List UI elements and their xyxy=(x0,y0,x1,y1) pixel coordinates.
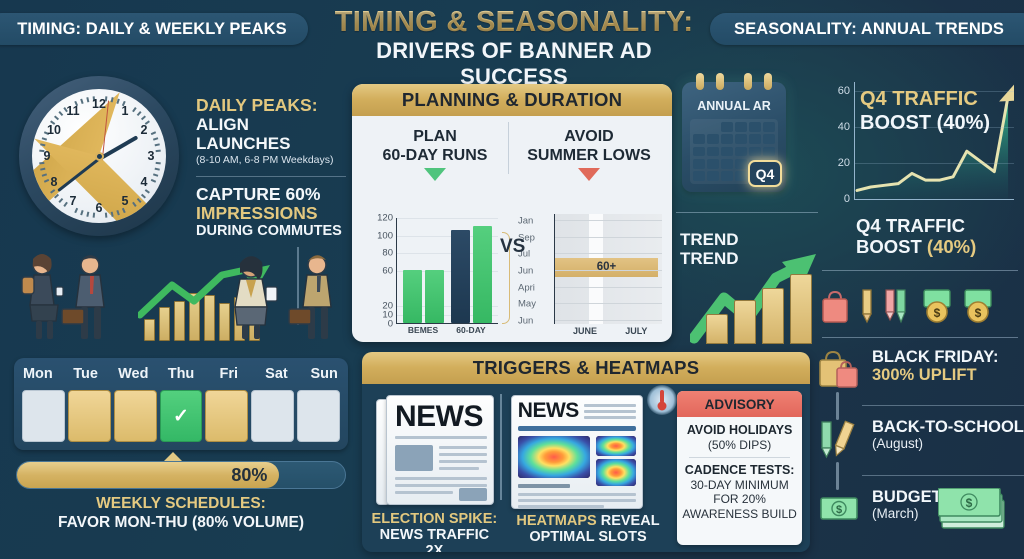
weekday-label-tue: Tue xyxy=(62,358,110,390)
news-image-block xyxy=(395,445,433,471)
seasonal-icon-row: $ $ xyxy=(820,282,1020,324)
calendar-day xyxy=(707,147,719,157)
weekday-label-sun: Sun xyxy=(300,358,348,390)
calendar-day xyxy=(763,134,775,144)
trend-arrow-illustration xyxy=(690,252,820,344)
planning-panel-title: PLANNING & DURATION xyxy=(352,84,672,116)
weekday-cell-tue[interactable] xyxy=(68,390,111,442)
weekly-schedule-card: MonTueWedThuFriSatSun ✓ xyxy=(14,358,348,450)
calendar-day xyxy=(707,171,719,181)
y-tick-20: 20 xyxy=(382,301,393,312)
avoid-title-line2: SUMMER LOWS xyxy=(527,147,651,164)
svg-text:$: $ xyxy=(836,504,842,516)
capture-line1: CAPTURE 60% xyxy=(196,185,346,204)
month-label-4: Apri xyxy=(518,282,535,293)
month-label-5: May xyxy=(518,299,536,310)
calendar-ring xyxy=(716,73,724,90)
timeline-connector xyxy=(836,462,839,490)
calendar-day xyxy=(763,147,775,157)
calendar-day xyxy=(735,159,747,169)
commuters-illustration xyxy=(14,243,348,343)
clock-face: 121234567891011 xyxy=(32,89,166,223)
overlay-line2: BOOST (40%) xyxy=(860,112,990,134)
heat-row xyxy=(555,253,662,254)
shopping-bags-icon xyxy=(818,348,862,390)
weekly-caption-line2: FAVOR MON-THU (80% VOLUME) xyxy=(14,514,348,532)
advisory-body: AVOID HOLIDAYS (50% DIPS) CADENCE TESTS:… xyxy=(677,417,802,521)
calendar-day xyxy=(721,134,733,144)
newspaper-icon: NEWS xyxy=(386,395,494,505)
divider xyxy=(676,212,818,213)
avoid-title-line1: AVOID xyxy=(564,128,613,145)
weekday-label-mon: Mon xyxy=(14,358,62,390)
election-caption-line1: ELECTION SPIKE: xyxy=(370,511,499,527)
weekday-cell-sun[interactable] xyxy=(297,390,340,442)
calendar-day xyxy=(721,171,733,181)
heatmap-main xyxy=(518,436,590,478)
election-spike-caption: ELECTION SPIKE: NEWS TRAFFIC 2X xyxy=(370,511,499,552)
overlay-line1: Q4 TRAFFIC xyxy=(860,88,978,110)
item-value: 300% UPLIFT xyxy=(872,366,999,384)
planning-duration-panel: PLANNING & DURATION PLAN 60-DAY RUNS 010… xyxy=(352,84,672,342)
annual-calendar-icon: ANNUAL AR Q4 xyxy=(682,82,786,192)
calendar-title: ANNUAL AR xyxy=(682,99,786,113)
clock-numeral-9: 9 xyxy=(39,149,55,163)
clock-numeral-2: 2 xyxy=(136,123,152,137)
weekday-cell-wed[interactable] xyxy=(114,390,157,442)
calendar-ring xyxy=(696,73,704,90)
month-label-3: Jun xyxy=(518,266,533,277)
weekday-label-thu: Thu xyxy=(157,358,205,390)
heatmap-page-icon: NEWS xyxy=(511,395,643,509)
election-caption-line2: NEWS TRAFFIC 2X xyxy=(370,527,499,552)
item-title: BACK-TO-SCHOOL xyxy=(872,418,1024,436)
trend-line1: TREND xyxy=(680,230,739,249)
heat-row xyxy=(555,320,662,321)
q4-badge: Q4 xyxy=(748,160,782,187)
calendar-ring xyxy=(744,73,752,90)
people-figures xyxy=(14,243,348,343)
advisory-item1-line2: (50% DIPS) xyxy=(682,438,797,453)
item-title: BLACK FRIDAY: xyxy=(872,348,999,366)
plan-title-line2: 60-DAY RUNS xyxy=(383,147,488,164)
summer-lows-heat-chart: 60+ JUNEJULY JanSepJulJunApriMayJun xyxy=(518,214,664,340)
heatmap-small-2 xyxy=(596,459,636,486)
triggers-panel-title: TRIGGERS & HEATMAPS xyxy=(362,352,810,384)
y-tick-60: 60 xyxy=(838,85,850,97)
election-spike-column: NEWS ELECTION SPIKE: NEWS TRAFFIC 2X xyxy=(370,391,499,545)
trend-bar xyxy=(734,300,756,344)
heatmaps-caption-line1: HEATMAPS REVEAL xyxy=(505,513,671,529)
advisory-item1-line1: AVOID HOLIDAYS xyxy=(682,423,797,438)
calendar-day xyxy=(735,134,747,144)
heat-row xyxy=(555,220,662,221)
money-coin-icon: $ xyxy=(921,288,953,324)
y-tick-20: 20 xyxy=(838,157,850,169)
capture-line2: IMPRESSIONS xyxy=(196,204,346,223)
money-stack-icon: $ xyxy=(938,488,1012,534)
down-triangle-green-icon xyxy=(424,168,446,181)
check-icon: ✓ xyxy=(173,405,189,428)
avoid-half-title: AVOID SUMMER LOWS xyxy=(514,122,664,165)
y-tick-80: 80 xyxy=(382,248,393,259)
item-sub: (August) xyxy=(872,436,1024,452)
clock-numeral-3: 3 xyxy=(143,149,159,163)
pencils-icon xyxy=(818,418,862,460)
money-coin-icon: $ xyxy=(962,288,994,324)
y-tick-100: 100 xyxy=(377,230,393,241)
weekday-label-fri: Fri xyxy=(205,358,253,390)
clock-numeral-10: 10 xyxy=(46,123,62,137)
calendar-day xyxy=(735,147,747,157)
news-word: NEWS xyxy=(395,400,483,434)
weekday-label-sat: Sat xyxy=(253,358,301,390)
trend-bar xyxy=(790,274,812,344)
clock-numeral-1: 1 xyxy=(117,104,133,118)
weekday-cell-thu[interactable]: ✓ xyxy=(160,390,203,442)
divider xyxy=(508,122,509,174)
calendar-day xyxy=(721,147,733,157)
divider xyxy=(862,475,1024,476)
heat-row xyxy=(555,237,662,238)
calendar-day xyxy=(693,147,705,157)
svg-text:$: $ xyxy=(966,496,973,510)
calendar-day xyxy=(721,122,733,132)
daily-peaks-note: (8-10 AM, 6-8 PM Weekdays) xyxy=(196,154,346,167)
heatmaps-column: NEWS xyxy=(505,391,671,545)
advisory-item2-line3: FOR 20% xyxy=(682,492,797,507)
list-item-text: BLACK FRIDAY: 300% UPLIFT xyxy=(872,348,999,384)
gridline xyxy=(855,163,1014,164)
heatmaps-caption: HEATMAPS REVEAL OPTIMAL SLOTS xyxy=(505,513,671,545)
infographic-canvas: TIMING: DAILY & WEEKLY PEAKS SEASONALITY… xyxy=(0,0,1024,559)
calendar-day xyxy=(749,122,761,132)
money-icon: $ xyxy=(818,488,862,530)
boost-pct: (40%) xyxy=(927,236,976,257)
list-item-text: BACK-TO-SCHOOL (August) xyxy=(872,418,1024,452)
heat-row xyxy=(555,270,662,271)
calendar-ring xyxy=(764,73,772,90)
plan-bar-plot: 010206080100120BEMES60-DAY xyxy=(396,218,498,324)
svg-text:$: $ xyxy=(975,306,982,320)
divider xyxy=(822,337,1018,338)
y-tick-60: 60 xyxy=(382,266,393,277)
month-label-6: Jun xyxy=(518,316,533,327)
divider xyxy=(196,176,346,177)
analog-clock: 121234567891011 xyxy=(19,76,179,236)
advisory-item2-line1: CADENCE TESTS: xyxy=(682,463,797,478)
x-tick-BEMES: BEMES xyxy=(408,325,438,335)
divider xyxy=(862,405,1024,406)
weekday-cell-mon[interactable] xyxy=(22,390,65,442)
advisory-header: ADVISORY xyxy=(677,391,802,417)
weekday-cell-row: ✓ xyxy=(14,390,348,442)
calendar-day xyxy=(693,159,705,169)
calendar-day xyxy=(735,122,747,132)
heat-row xyxy=(555,287,662,288)
calendar-day xyxy=(707,134,719,144)
calendar-day xyxy=(763,122,775,132)
daily-peaks-line2: ALIGN LAUNCHES xyxy=(196,115,346,153)
divider xyxy=(689,457,790,458)
pencil-icon xyxy=(859,288,875,324)
advisory-item2-line2: 30-DAY MINIMUM xyxy=(682,478,797,493)
clock-numeral-4: 4 xyxy=(136,175,152,189)
list-item: BACK-TO-SCHOOL (August) xyxy=(818,418,1024,460)
calendar-day xyxy=(693,171,705,181)
heat-row xyxy=(555,303,662,304)
divider xyxy=(822,270,1018,271)
weekday-cell-sat[interactable] xyxy=(251,390,294,442)
title-main: TIMING & SEASONALITY: xyxy=(332,6,696,39)
calendar-day xyxy=(707,159,719,169)
clock-numeral-12: 12 xyxy=(91,97,107,111)
title-subtitle: DRIVERS OF BANNER AD SUCCESS xyxy=(332,38,696,90)
volume-progress-track[interactable]: 80% xyxy=(16,461,346,489)
q4-caption: Q4 TRAFFIC BOOST (40%) xyxy=(856,215,1024,257)
y-tick-40: 40 xyxy=(838,121,850,133)
bar-60-DAY-0 xyxy=(451,230,470,323)
x-tick-JULY: JULY xyxy=(625,326,647,336)
bar-BEMES-1 xyxy=(425,270,444,323)
capture-line3: DURING COMMUTES xyxy=(196,223,346,240)
volume-progress-fill: 80% xyxy=(17,462,279,488)
avoid-summer-lows-half: AVOID SUMMER LOWS 60+ JUNEJULY JanSepJul… xyxy=(514,122,664,334)
clock-numeral-7: 7 xyxy=(65,194,81,208)
clock-numeral-5: 5 xyxy=(117,194,133,208)
month-label-0: Jan xyxy=(518,216,533,227)
daily-peaks-text-block: DAILY PEAKS: ALIGN LAUNCHES (8-10 AM, 6-… xyxy=(196,96,346,240)
clock-center-cap xyxy=(95,152,104,161)
down-triangle-red-icon xyxy=(578,168,600,181)
pencils-icon xyxy=(884,288,912,324)
shopping-bag-icon xyxy=(820,290,850,324)
weekday-cell-fri[interactable] xyxy=(205,390,248,442)
q4-caption-line1: Q4 TRAFFIC xyxy=(856,215,1024,236)
triggers-panel-body: NEWS ELECTION SPIKE: NEWS TRAFFIC 2X xyxy=(362,384,810,552)
heatmaps-caption-line3: OPTIMAL SLOTS xyxy=(505,529,671,545)
x-tick-JUNE: JUNE xyxy=(573,326,597,336)
plan-bar-chart: 010206080100120BEMES60-DAY xyxy=(366,218,506,340)
timeline-connector xyxy=(836,392,839,420)
bar-BEMES-0 xyxy=(403,270,422,323)
divider xyxy=(500,394,502,500)
x-tick-60-DAY: 60-DAY xyxy=(456,325,485,335)
calendar-day xyxy=(749,134,761,144)
planning-panel-body: PLAN 60-DAY RUNS 010206080100120BEMES60-… xyxy=(352,116,672,342)
month-highlight-band: 60+ xyxy=(555,258,658,277)
reveal-word: REVEAL xyxy=(601,513,660,529)
y-tick-120: 120 xyxy=(377,213,393,224)
heatmap-small-1 xyxy=(596,436,636,456)
advisory-item2-line4: AWARENESS BUILD xyxy=(682,507,797,522)
heatmaps-word: HEATMAPS xyxy=(516,513,596,529)
plan-title-line1: PLAN xyxy=(413,128,457,145)
weekly-caption-line1: WEEKLY SCHEDULES: xyxy=(14,495,348,513)
clock-numeral-6: 6 xyxy=(91,201,107,215)
daily-peaks-heading: DAILY PEAKS: xyxy=(196,96,346,115)
summer-lows-plot: 60+ JUNEJULY xyxy=(554,214,662,324)
chart-overlay-text: Q4 TRAFFIC BOOST (40%) xyxy=(860,88,1020,136)
plan-half-title: PLAN 60-DAY RUNS xyxy=(360,122,510,165)
triggers-heatmaps-panel: TRIGGERS & HEATMAPS NEWS xyxy=(362,352,810,552)
boost-word: BOOST xyxy=(856,236,927,257)
list-item: BLACK FRIDAY: 300% UPLIFT xyxy=(818,348,1024,390)
calendar-day xyxy=(721,159,733,169)
header-badge-left: TIMING: DAILY & WEEKLY PEAKS xyxy=(0,13,308,45)
calendar-day xyxy=(749,147,761,157)
weekday-header-row: MonTueWedThuFriSatSun xyxy=(14,358,348,390)
calendar-day xyxy=(693,134,705,144)
plan-60-day-half: PLAN 60-DAY RUNS 010206080100120BEMES60-… xyxy=(360,122,510,334)
weekly-caption: WEEKLY SCHEDULES: FAVOR MON-THU (80% VOL… xyxy=(14,495,348,532)
weekday-label-wed: Wed xyxy=(109,358,157,390)
thermometer-icon xyxy=(647,385,677,415)
header-badge-right: SEASONALITY: ANNUAL TRENDS xyxy=(710,13,1024,45)
trend-bar xyxy=(706,314,728,344)
bar-60-DAY-1 xyxy=(473,226,492,323)
y-tick-0: 0 xyxy=(844,193,850,205)
q4-caption-line2: BOOST (40%) xyxy=(856,236,1024,257)
advisory-column: ADVISORY AVOID HOLIDAYS (50% DIPS) CADEN… xyxy=(677,391,802,545)
gridline xyxy=(397,218,498,219)
trend-bar xyxy=(762,288,784,344)
calendar-day xyxy=(735,171,747,181)
page-title: TIMING & SEASONALITY: DRIVERS OF BANNER … xyxy=(332,6,696,90)
news-word: NEWS xyxy=(518,399,579,423)
svg-text:$: $ xyxy=(934,306,941,320)
vs-label: VS xyxy=(500,236,525,258)
advisory-card: ADVISORY AVOID HOLIDAYS (50% DIPS) CADEN… xyxy=(677,391,802,545)
clock-numeral-11: 11 xyxy=(65,104,81,118)
